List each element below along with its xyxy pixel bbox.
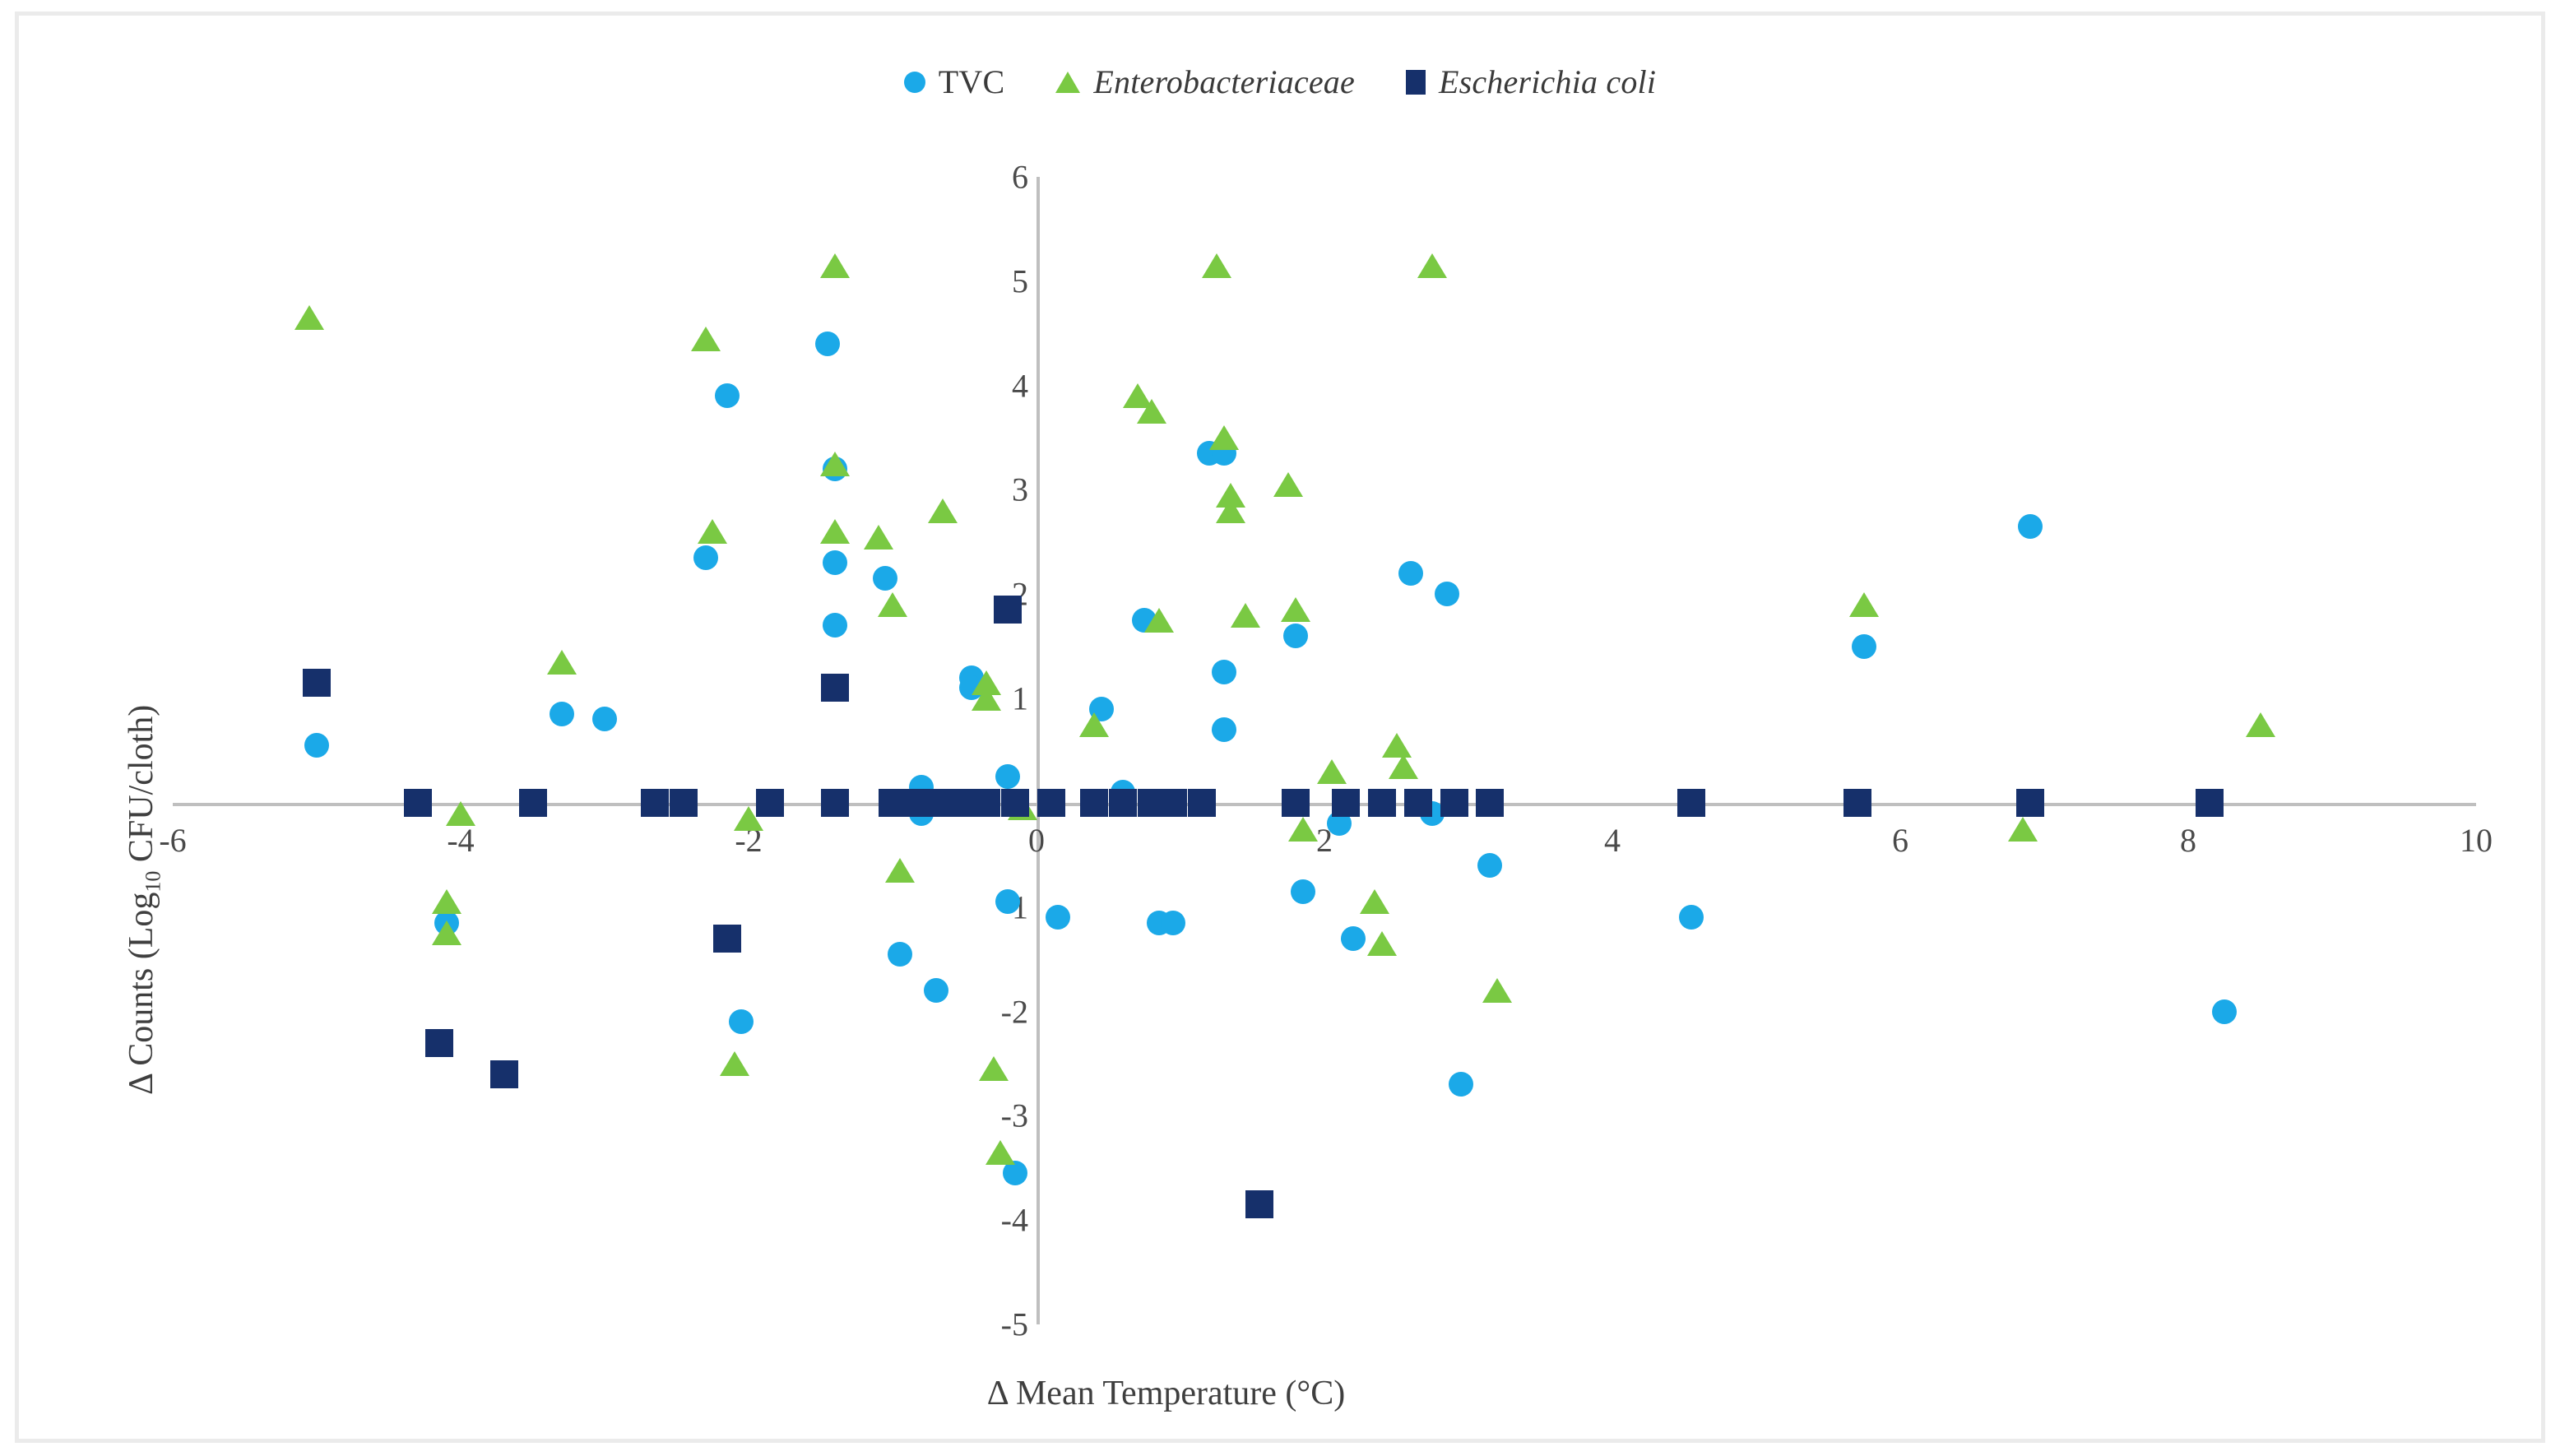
x-tick-label: 8 bbox=[2180, 821, 2196, 860]
data-point-triangle bbox=[928, 498, 958, 523]
data-point-circle bbox=[823, 613, 847, 638]
data-point-square bbox=[490, 1060, 518, 1088]
data-point-circle bbox=[1477, 853, 1502, 878]
data-point-circle bbox=[995, 764, 1020, 789]
data-point-square bbox=[972, 789, 1000, 817]
plot-wrapper: -6-4-20246810 6543210-1-2-3-4-5 Δ Mean T… bbox=[0, 0, 2560, 1456]
y-tick-label: 4 bbox=[979, 366, 1028, 405]
data-point-circle bbox=[715, 383, 740, 408]
data-point-triangle bbox=[2246, 712, 2275, 737]
data-point-circle bbox=[888, 942, 912, 967]
data-point-square bbox=[1159, 789, 1187, 817]
data-point-triangle bbox=[820, 452, 850, 476]
x-tick-label: 4 bbox=[1604, 821, 1621, 860]
data-point-square bbox=[1109, 789, 1137, 817]
data-point-square bbox=[756, 789, 784, 817]
data-point-triangle bbox=[1482, 978, 1512, 1003]
x-axis-title: Δ Mean Temperature (°C) bbox=[987, 1374, 1345, 1413]
data-point-circle bbox=[1046, 905, 1070, 930]
data-point-circle bbox=[823, 550, 847, 575]
y-axis-line bbox=[1037, 177, 1040, 1324]
data-point-triangle bbox=[979, 1056, 1009, 1081]
data-point-triangle bbox=[1231, 603, 1260, 628]
data-point-triangle bbox=[1389, 754, 1418, 779]
data-point-triangle bbox=[1288, 817, 1318, 842]
data-point-triangle bbox=[1079, 712, 1109, 737]
data-point-triangle bbox=[1367, 931, 1397, 956]
data-point-triangle bbox=[878, 592, 907, 617]
data-point-square bbox=[2196, 789, 2224, 817]
data-point-circle bbox=[1212, 660, 1236, 684]
y-title-post: CFU/cloth) bbox=[123, 705, 160, 871]
y-title-pre: Δ Counts (Log bbox=[123, 893, 160, 1095]
data-point-circle bbox=[815, 332, 840, 356]
data-point-circle bbox=[1852, 634, 1876, 659]
data-point-square bbox=[519, 789, 547, 817]
y-title-subscript: 10 bbox=[141, 871, 165, 893]
data-point-triangle bbox=[864, 525, 893, 549]
data-point-square bbox=[1282, 789, 1310, 817]
data-point-square bbox=[1001, 789, 1029, 817]
data-point-triangle bbox=[1137, 399, 1166, 424]
data-point-square bbox=[1368, 789, 1396, 817]
data-point-triangle bbox=[1216, 498, 1245, 523]
data-point-square bbox=[670, 789, 698, 817]
data-point-triangle bbox=[972, 686, 1001, 711]
data-point-triangle bbox=[2008, 817, 2038, 842]
data-point-circle bbox=[1283, 624, 1308, 648]
data-point-square bbox=[1404, 789, 1432, 817]
data-point-square bbox=[641, 789, 669, 817]
data-point-triangle bbox=[720, 1051, 749, 1076]
y-tick-label: -4 bbox=[979, 1201, 1028, 1240]
y-tick-label: 5 bbox=[979, 262, 1028, 300]
y-tick-label: -3 bbox=[979, 1097, 1028, 1135]
data-point-circle bbox=[550, 702, 574, 726]
data-point-square bbox=[1440, 789, 1468, 817]
data-point-circle bbox=[729, 1009, 754, 1034]
data-point-triangle bbox=[885, 858, 915, 883]
data-point-square bbox=[404, 789, 432, 817]
data-point-square bbox=[1476, 789, 1504, 817]
data-point-circle bbox=[1161, 911, 1185, 935]
data-point-circle bbox=[2212, 999, 2237, 1024]
x-tick-label: 10 bbox=[2460, 821, 2493, 860]
data-point-square bbox=[303, 669, 331, 697]
data-point-square bbox=[713, 925, 741, 953]
y-tick-label: 6 bbox=[979, 158, 1028, 197]
x-tick-label: 6 bbox=[1892, 821, 1908, 860]
data-point-circle bbox=[592, 707, 617, 731]
data-point-triangle bbox=[820, 519, 850, 544]
plot-area: -6-4-20246810 6543210-1-2-3-4-5 bbox=[173, 177, 2476, 1324]
y-tick-label: 3 bbox=[979, 471, 1028, 509]
data-point-triangle bbox=[1317, 759, 1347, 784]
data-point-circle bbox=[1435, 582, 1459, 606]
data-point-triangle bbox=[698, 519, 727, 544]
data-point-triangle bbox=[820, 253, 850, 278]
data-point-circle bbox=[1291, 879, 1315, 904]
data-point-triangle bbox=[432, 920, 461, 945]
data-point-triangle bbox=[1360, 889, 1389, 914]
data-point-square bbox=[425, 1029, 453, 1057]
data-point-circle bbox=[1212, 717, 1236, 742]
data-point-triangle bbox=[1209, 425, 1239, 450]
y-tick-label: -5 bbox=[979, 1305, 1028, 1344]
data-point-square bbox=[821, 674, 849, 702]
data-point-circle bbox=[1398, 561, 1423, 586]
y-tick-label: -2 bbox=[979, 992, 1028, 1031]
data-point-triangle bbox=[691, 327, 721, 351]
data-point-triangle bbox=[446, 801, 475, 826]
data-point-triangle bbox=[1144, 608, 1174, 633]
x-tick-label: 0 bbox=[1028, 821, 1045, 860]
data-point-square bbox=[1245, 1190, 1273, 1218]
data-point-circle bbox=[693, 545, 718, 570]
data-point-circle bbox=[1679, 905, 1704, 930]
figure-page: TVCEnterobacteriaceaeEscherichia coli -6… bbox=[0, 0, 2560, 1456]
data-point-circle bbox=[1449, 1072, 1473, 1097]
data-point-triangle bbox=[1273, 472, 1303, 497]
data-point-triangle bbox=[1849, 592, 1879, 617]
data-point-square bbox=[821, 789, 849, 817]
data-point-triangle bbox=[294, 305, 324, 330]
data-point-square bbox=[1080, 789, 1108, 817]
data-point-circle bbox=[1341, 926, 1366, 951]
y-axis-title: Δ Counts (Log10 CFU/cloth) bbox=[122, 705, 165, 1095]
data-point-triangle bbox=[1202, 253, 1231, 278]
data-point-triangle bbox=[1281, 597, 1310, 622]
data-point-triangle bbox=[986, 1140, 1015, 1165]
data-point-circle bbox=[304, 733, 329, 758]
data-point-square bbox=[1188, 789, 1216, 817]
x-tick-label: -4 bbox=[447, 821, 474, 860]
data-point-circle bbox=[924, 978, 948, 1003]
data-point-triangle bbox=[1417, 253, 1447, 278]
data-point-square bbox=[1677, 789, 1705, 817]
data-point-triangle bbox=[547, 650, 577, 675]
data-point-triangle bbox=[432, 889, 461, 914]
data-point-circle bbox=[873, 566, 897, 591]
data-point-square bbox=[1037, 789, 1065, 817]
data-point-circle bbox=[2018, 514, 2043, 539]
data-point-square bbox=[2016, 789, 2044, 817]
data-point-square bbox=[1332, 789, 1360, 817]
data-point-square bbox=[994, 596, 1022, 624]
data-point-square bbox=[1843, 789, 1871, 817]
data-point-circle bbox=[995, 889, 1020, 914]
